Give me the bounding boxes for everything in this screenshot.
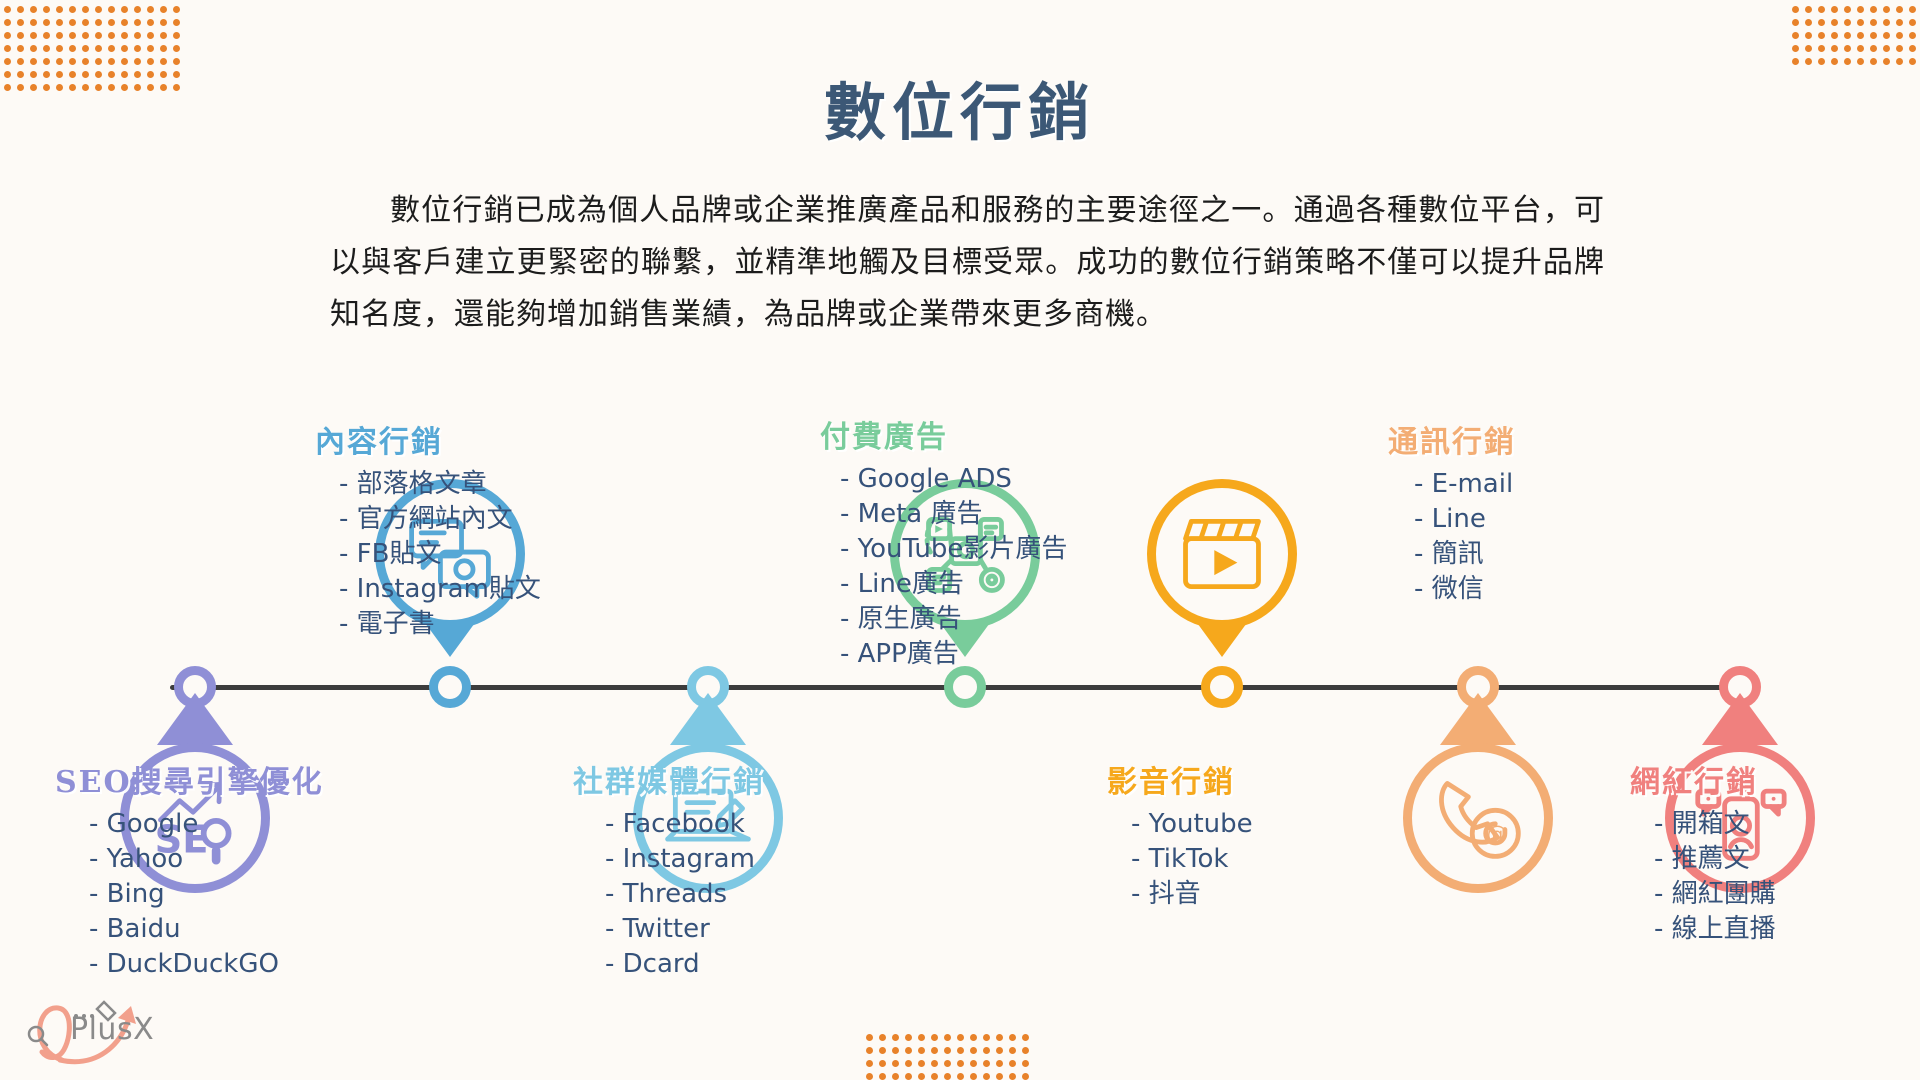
list-item: - Google ADS	[840, 462, 1067, 497]
pin-tail-seo	[157, 693, 233, 745]
pin-tail-influencer	[1702, 693, 1778, 745]
list-item: - Bing	[89, 877, 324, 912]
infographic-canvas: 數位行銷 數位行銷已成為個人品牌或企業推廣產品和服務的主要途徑之一。通過各種數位…	[0, 0, 1920, 1080]
info-heading-seo: SEO搜尋引擎優化	[55, 757, 324, 801]
list-item: - 抖音	[1131, 877, 1253, 912]
info-block-paid: 付費廣告- Google ADS- Meta 廣告- YouTube影片廣告- …	[820, 412, 1067, 672]
list-item: - 電子書	[339, 607, 541, 642]
info-list-social: - Facebook- Instagram- Threads- Twitter-…	[573, 807, 765, 982]
list-item: - Line廣告	[840, 567, 1067, 602]
marker-pin-messaging[interactable]: @	[1403, 743, 1553, 893]
info-block-messaging: 通訊行銷- E-mail- Line- 簡訊- 微信	[1388, 417, 1516, 607]
list-item: - Baidu	[89, 912, 324, 947]
phone-email-icon: @	[1403, 743, 1553, 893]
timeline-node-video[interactable]	[1201, 666, 1243, 708]
list-item: - FB貼文	[339, 537, 541, 572]
list-item: - 開箱文	[1654, 807, 1776, 842]
info-list-influencer: - 開箱文- 推薦文- 網紅團購- 線上直播	[1630, 807, 1776, 947]
plusx-logo-text: PlusX	[70, 1012, 154, 1047]
info-list-seo: - Google- Yahoo- Bing- Baidu- DuckDuckGO	[55, 807, 324, 982]
list-item: - 線上直播	[1654, 912, 1776, 947]
list-item: - TikTok	[1131, 842, 1253, 877]
info-heading-social: 社群媒體行銷	[573, 757, 765, 801]
timeline-node-paid[interactable]	[944, 666, 986, 708]
info-list-video: - Youtube- TikTok- 抖音	[1107, 807, 1253, 912]
list-item: - Instagram貼文	[339, 572, 541, 607]
marker-pin-video[interactable]	[1147, 479, 1297, 629]
list-item: - Youtube	[1131, 807, 1253, 842]
list-item: - Dcard	[605, 947, 765, 982]
list-item: - Yahoo	[89, 842, 324, 877]
intro-paragraph: 數位行銷已成為個人品牌或企業推廣產品和服務的主要途徑之一。通過各種數位平台，可以…	[330, 185, 1605, 341]
timeline-node-content[interactable]	[429, 666, 471, 708]
list-item: - Google	[89, 807, 324, 842]
info-list-paid: - Google ADS- Meta 廣告- YouTube影片廣告- Line…	[820, 462, 1067, 672]
info-heading-influencer: 網紅行銷	[1630, 757, 1776, 801]
info-heading-video: 影音行銷	[1107, 757, 1253, 801]
list-item: - 簡訊	[1414, 537, 1516, 572]
list-item: - Meta 廣告	[840, 497, 1067, 532]
list-item: - APP廣告	[840, 637, 1067, 672]
list-item: - 部落格文章	[339, 467, 541, 502]
list-item: - Facebook	[605, 807, 765, 842]
list-item: - 網紅團購	[1654, 877, 1776, 912]
list-item: - DuckDuckGO	[89, 947, 324, 982]
list-item: - Threads	[605, 877, 765, 912]
list-item: - 微信	[1414, 572, 1516, 607]
info-block-social: 社群媒體行銷- Facebook- Instagram- Threads- Tw…	[573, 757, 765, 982]
plusx-logo: PlusX	[18, 990, 178, 1070]
pin-tail-social	[670, 693, 746, 745]
svg-text:@: @	[1487, 821, 1508, 846]
list-item: - 推薦文	[1654, 842, 1776, 877]
info-list-content: - 部落格文章- 官方網站內文- FB貼文- Instagram貼文- 電子書	[315, 467, 541, 642]
list-item: - 原生廣告	[840, 602, 1067, 637]
page-title: 數位行銷	[0, 62, 1920, 152]
pin-tail-messaging	[1440, 693, 1516, 745]
info-list-messaging: - E-mail- Line- 簡訊- 微信	[1388, 467, 1516, 607]
info-block-influencer: 網紅行銷- 開箱文- 推薦文- 網紅團購- 線上直播	[1630, 757, 1776, 947]
list-item: - YouTube影片廣告	[840, 532, 1067, 567]
list-item: - E-mail	[1414, 467, 1516, 502]
info-block-seo: SEO搜尋引擎優化- Google- Yahoo- Bing- Baidu- D…	[55, 757, 324, 982]
info-heading-messaging: 通訊行銷	[1388, 417, 1516, 461]
info-heading-paid: 付費廣告	[820, 412, 1067, 456]
list-item: - 官方網站內文	[339, 502, 541, 537]
info-block-content: 內容行銷- 部落格文章- 官方網站內文- FB貼文- Instagram貼文- …	[315, 417, 541, 642]
clapperboard-play-icon	[1147, 479, 1297, 629]
info-block-video: 影音行銷- Youtube- TikTok- 抖音	[1107, 757, 1253, 912]
list-item: - Twitter	[605, 912, 765, 947]
list-item: - Instagram	[605, 842, 765, 877]
list-item: - Line	[1414, 502, 1516, 537]
info-heading-content: 內容行銷	[315, 417, 541, 461]
